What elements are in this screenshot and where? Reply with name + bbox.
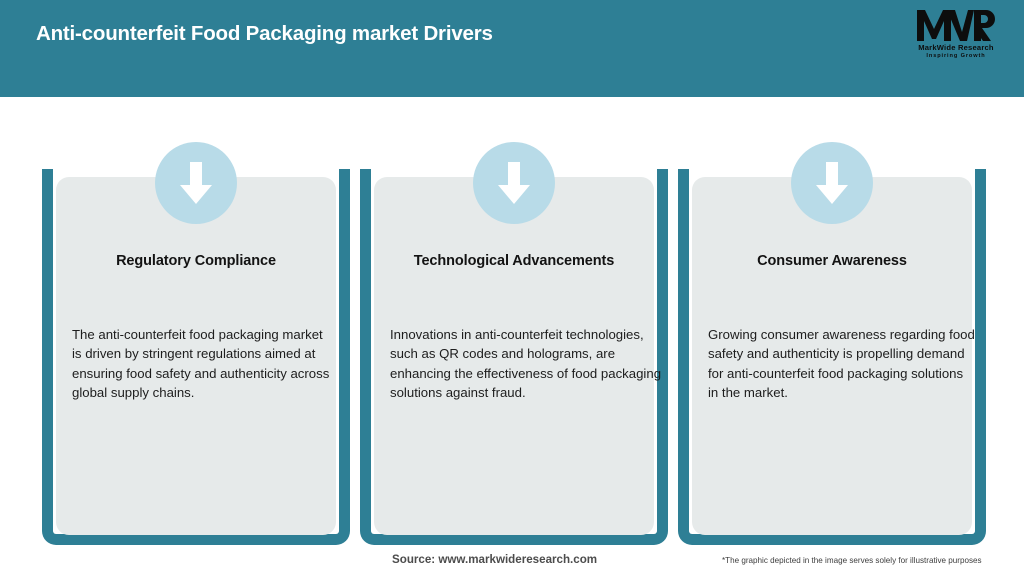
disclaimer-text: *The graphic depicted in the image serve… [722, 556, 982, 565]
page-title: Anti-counterfeit Food Packaging market D… [36, 22, 493, 46]
card-heading: Regulatory Compliance [66, 253, 326, 269]
card-body-text: Growing consumer awareness regarding foo… [708, 325, 976, 403]
drivers-cards-region: Regulatory Compliance The anti-counterfe… [0, 97, 1024, 537]
mwr-logo-mark-icon [902, 8, 1010, 42]
driver-card[interactable]: Technological Advancements Innovations i… [360, 97, 668, 537]
driver-card[interactable]: Consumer Awareness Growing consumer awar… [678, 97, 986, 537]
arrow-down-icon [473, 142, 555, 224]
driver-card[interactable]: Regulatory Compliance The anti-counterfe… [42, 97, 350, 537]
source-link[interactable]: Source: www.markwideresearch.com [392, 553, 597, 566]
brand-tagline: Inspiring Growth [902, 53, 1010, 59]
card-body-text: Innovations in anti-counterfeit technolo… [390, 325, 662, 403]
brand-name: MarkWide Research [902, 43, 1010, 52]
header-bar: Anti-counterfeit Food Packaging market D… [0, 0, 1024, 97]
card-heading: Consumer Awareness [702, 253, 962, 269]
arrow-down-icon [791, 142, 873, 224]
card-body-text: The anti-counterfeit food packaging mark… [72, 325, 334, 403]
card-heading: Technological Advancements [384, 253, 644, 269]
footer: Source: www.markwideresearch.com *The gr… [0, 545, 1024, 576]
arrow-down-icon [155, 142, 237, 224]
brand-logo: MarkWide Research Inspiring Growth [902, 8, 1010, 64]
